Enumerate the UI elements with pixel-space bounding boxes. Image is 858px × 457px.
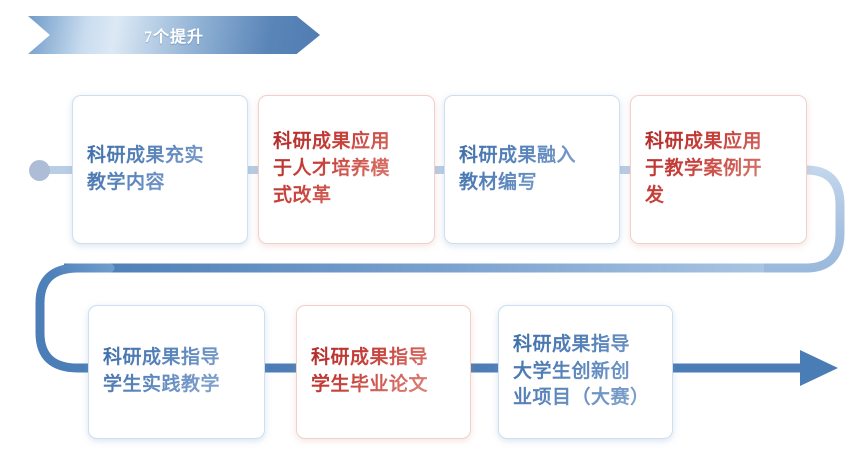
- flow-node-7-label: 科研成果指导 大学生创新创 业项目（大赛）: [513, 332, 650, 413]
- flow-node-3[interactable]: 科研成果融入 教材编写: [444, 95, 620, 244]
- flow-end-arrow: [668, 350, 838, 386]
- flow-node-1-label: 科研成果充实 教学内容: [87, 143, 204, 197]
- flow-node-3-label: 科研成果融入 教材编写: [459, 143, 576, 197]
- flow-node-4-label: 科研成果应用 于教学案例开 发: [645, 129, 762, 210]
- flow-node-2-label: 科研成果应用 于人才培养模 式改革: [273, 129, 390, 210]
- flow-node-1[interactable]: 科研成果充实 教学内容: [72, 95, 248, 244]
- flow-node-5[interactable]: 科研成果指导 学生实践教学: [88, 305, 265, 439]
- mid-horizontal-bar: [64, 264, 764, 273]
- flow-node-6[interactable]: 科研成果指导 学生毕业论文: [296, 305, 471, 439]
- flow-start-dot: [29, 160, 50, 181]
- flow-node-2[interactable]: 科研成果应用 于人才培养模 式改革: [258, 95, 435, 244]
- flow-node-4[interactable]: 科研成果应用 于教学案例开 发: [630, 95, 807, 244]
- diagram-canvas: 7个提升: [0, 0, 858, 457]
- flow-node-5-label: 科研成果指导 学生实践教学: [103, 345, 220, 399]
- flow-node-6-label: 科研成果指导 学生毕业论文: [311, 345, 428, 399]
- section-banner-label: 7个提升: [28, 16, 320, 54]
- flow-node-7[interactable]: 科研成果指导 大学生创新创 业项目（大赛）: [498, 305, 673, 439]
